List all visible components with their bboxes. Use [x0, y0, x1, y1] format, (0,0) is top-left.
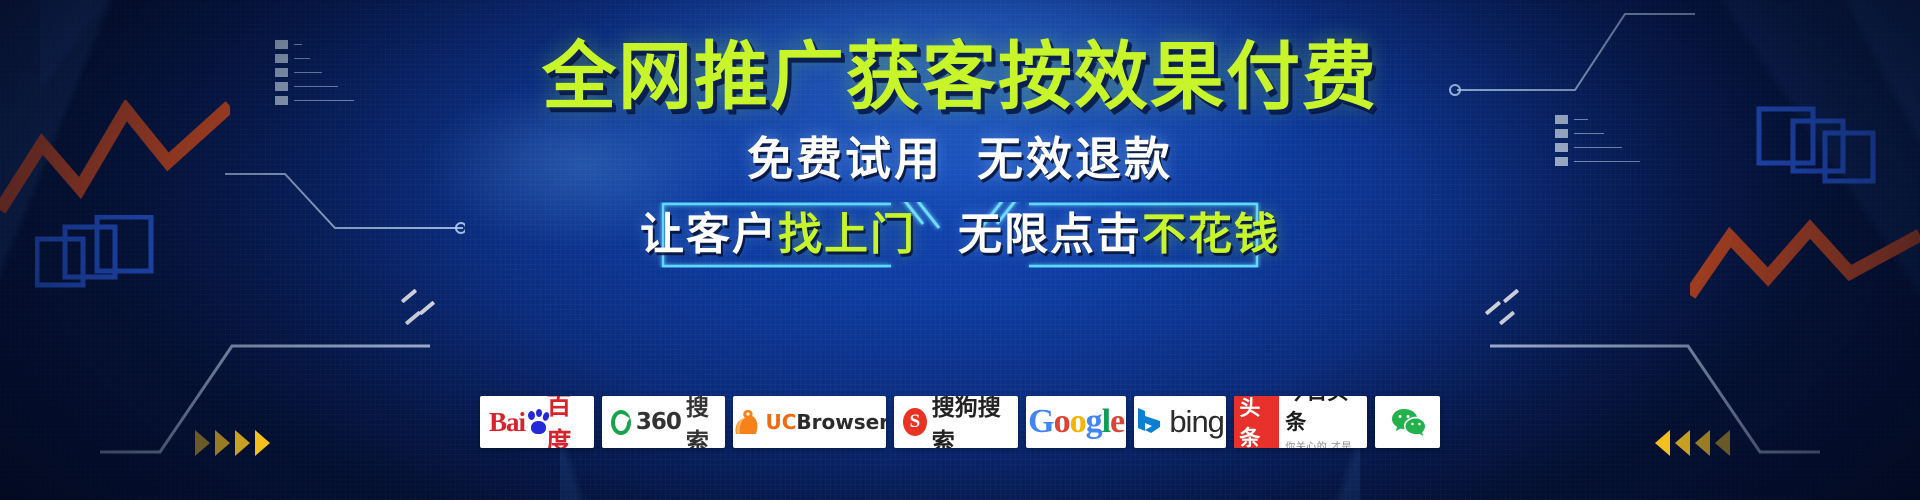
tagline-right: 无限点击不花钱 [958, 213, 1280, 257]
logo-sogou-search[interactable]: S 搜狗搜索 [894, 396, 1018, 448]
google-letter-G: G [1028, 403, 1053, 441]
chevron-left-icon [1655, 430, 1670, 456]
google-letter-o2: o [1070, 403, 1086, 441]
toutiao-badge-icon: 头条 [1234, 396, 1279, 448]
360-latin-text: 360 [636, 409, 681, 435]
logo-uc-browser[interactable]: UCBrowser [733, 396, 886, 448]
chevron-left-icon [1675, 430, 1690, 456]
bing-latin-text: bing [1169, 404, 1224, 440]
logo-google[interactable]: Google [1026, 396, 1126, 448]
baidu-cn-text: 百度 [546, 396, 585, 448]
logo-360-search[interactable]: 360 搜索 [602, 396, 725, 448]
chevron-left-icon [1695, 430, 1710, 456]
bing-mark-icon [1136, 407, 1162, 437]
banner-subline: 免费试用 无效退款 [747, 136, 1173, 182]
partner-logo-strip: Bai 百度 360 搜索 UCBrowse [480, 396, 1440, 448]
chevron-right-icon [195, 430, 210, 456]
banner-tagline: 让客户找上门 无限点击不花钱 [640, 213, 1280, 257]
google-letter-o1: o [1054, 403, 1070, 441]
google-letter-l: l [1102, 403, 1110, 441]
sogou-cn-text: 搜狗搜索 [932, 396, 1010, 448]
toutiao-slogan: 你关心的 才是头条 [1285, 438, 1358, 448]
tagline-right-lime: 不花钱 [1142, 209, 1280, 260]
baidu-latin-text: Bai [489, 407, 525, 438]
chevron-right-icon [255, 430, 270, 456]
logo-baidu[interactable]: Bai 百度 [480, 396, 594, 448]
logo-bing[interactable]: bing [1134, 396, 1226, 448]
tagline-right-white: 无限点击 [958, 209, 1142, 260]
toutiao-cn-text: 今日头条 [1285, 396, 1358, 436]
uc-latin-a: UC [765, 410, 796, 434]
tagline-left-white: 让客户 [640, 209, 778, 260]
uc-latin-b: Browser [796, 410, 886, 434]
sogou-circle-icon: S [903, 408, 927, 436]
chevron-right-icon [215, 430, 230, 456]
360-cn-text: 搜索 [686, 396, 717, 448]
tagline-frame: 让客户找上门 无限点击不花钱 [655, 202, 1265, 268]
chevron-arrows-right [1655, 430, 1730, 456]
wechat-icon [1391, 407, 1425, 437]
tagline-left-lime: 找上门 [778, 209, 916, 260]
360-ring-icon [611, 410, 631, 435]
chevron-left-icon [1715, 430, 1730, 456]
google-letter-g: g [1086, 403, 1102, 441]
logo-toutiao[interactable]: 头条 今日头条 你关心的 才是头条 [1234, 396, 1367, 448]
subline-item-2: 无效退款 [977, 136, 1173, 182]
baidu-paw-icon [526, 409, 545, 435]
toutiao-text-block: 今日头条 你关心的 才是头条 [1285, 396, 1358, 448]
uc-squirrel-icon [733, 407, 760, 437]
chevron-arrows-left [195, 430, 270, 456]
promo-banner: 全网推广获客按效果付费 免费试用 无效退款 [0, 0, 1920, 500]
chevron-right-icon [235, 430, 250, 456]
banner-headline: 全网推广获客按效果付费 [542, 40, 1378, 114]
tagline-left: 让客户找上门 [640, 213, 916, 257]
subline-item-1: 免费试用 [747, 136, 943, 182]
banner-content: 全网推广获客按效果付费 免费试用 无效退款 [0, 0, 1920, 268]
logo-wechat[interactable] [1375, 396, 1440, 448]
google-letter-e: e [1110, 403, 1124, 441]
